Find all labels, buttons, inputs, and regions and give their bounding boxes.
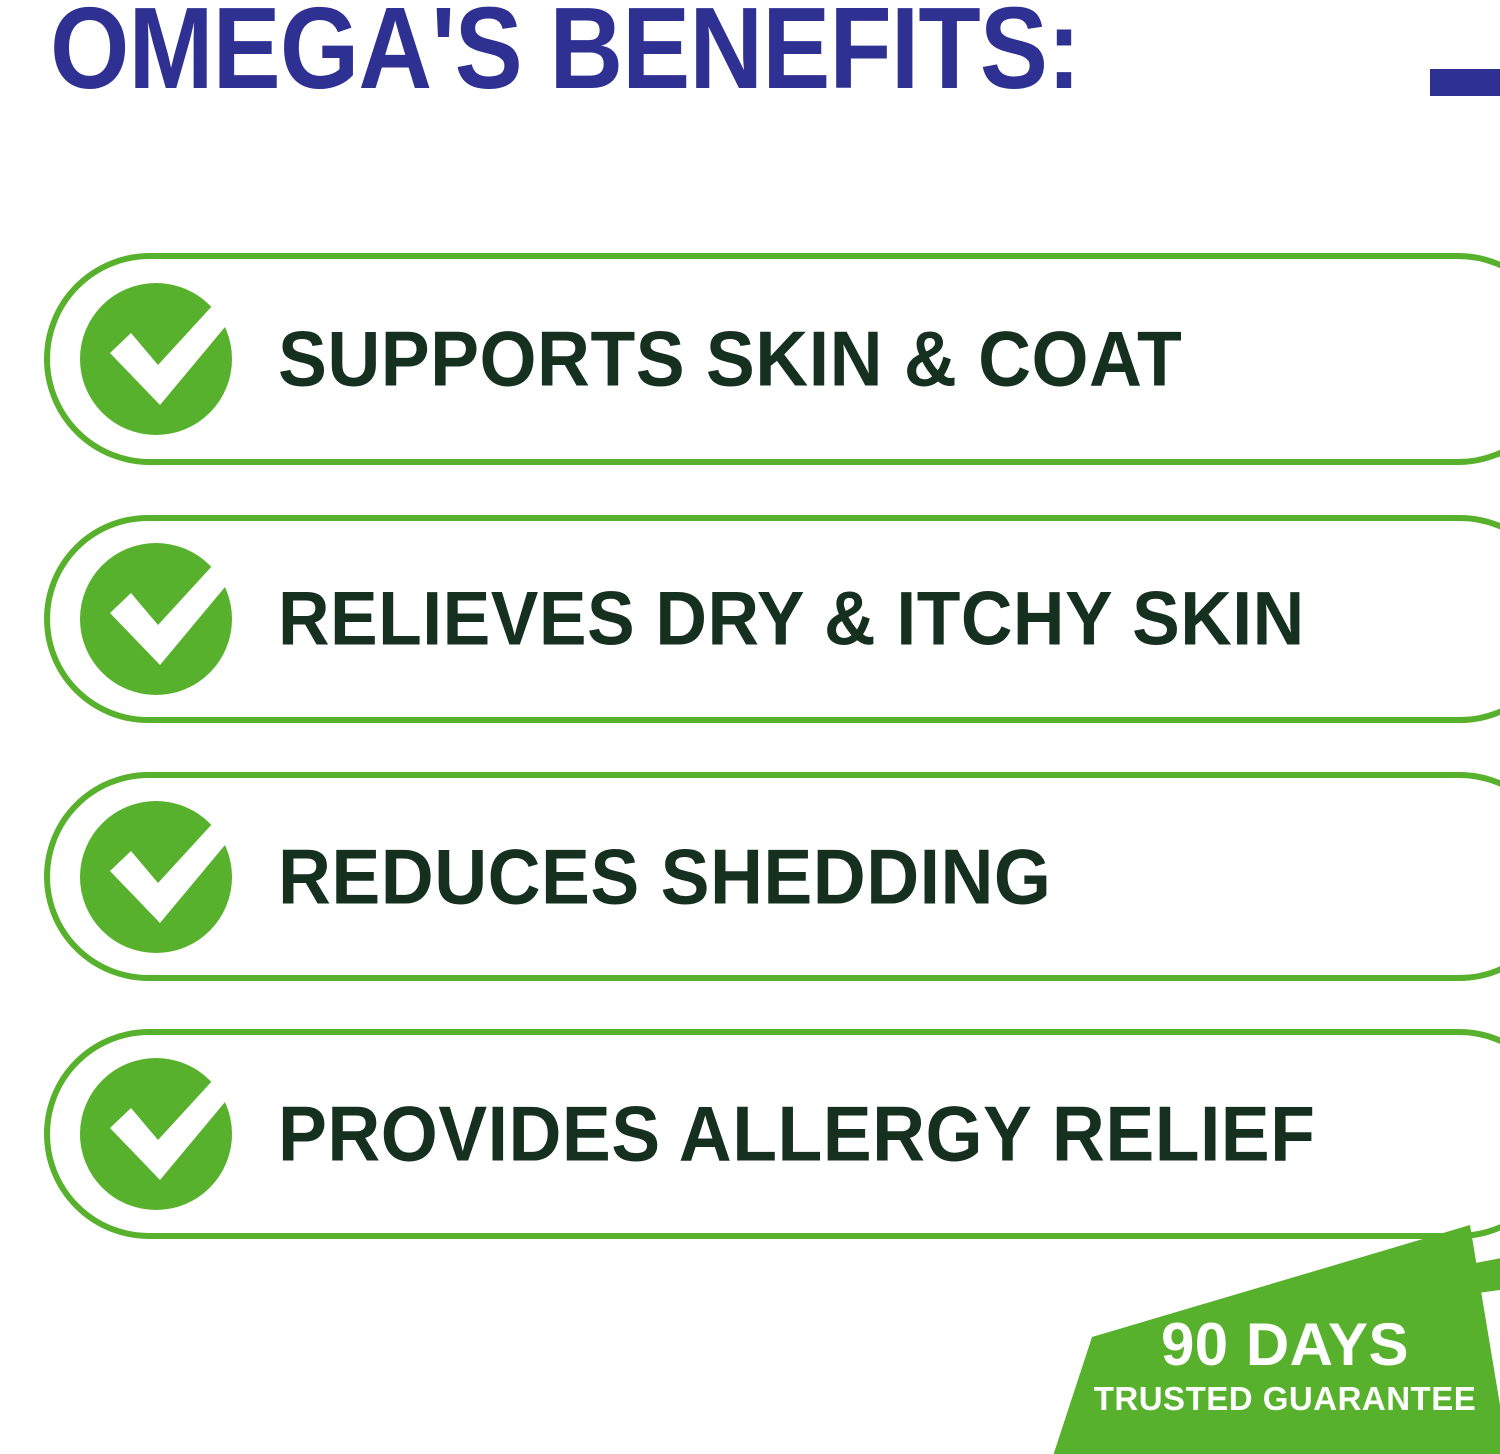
benefit-pill-2: RELIEVES DRY & ITCHY SKIN bbox=[44, 515, 1500, 723]
benefit-pill-3: REDUCES SHEDDING bbox=[44, 772, 1500, 981]
check-circle-icon bbox=[74, 277, 238, 441]
benefit-pill-4: PROVIDES ALLERGY RELIEF bbox=[44, 1029, 1500, 1239]
ribbon-banner-icon bbox=[1050, 1225, 1500, 1454]
benefit-label-1: SUPPORTS SKIN & COAT bbox=[278, 314, 1182, 405]
heading: OMEGA'S BENEFITS: bbox=[0, 0, 1500, 120]
dash-rule-icon bbox=[1430, 69, 1500, 96]
check-circle-icon bbox=[74, 537, 238, 701]
page-title: OMEGA'S BENEFITS: bbox=[50, 0, 1080, 108]
check-circle-icon bbox=[74, 1052, 238, 1216]
benefit-label-2: RELIEVES DRY & ITCHY SKIN bbox=[278, 576, 1305, 663]
check-circle-icon bbox=[74, 795, 238, 959]
guarantee-badge: 90 DAYS TRUSTED GUARANTEE bbox=[1050, 1225, 1500, 1454]
benefit-label-4: PROVIDES ALLERGY RELIEF bbox=[278, 1089, 1315, 1180]
benefit-label-3: REDUCES SHEDDING bbox=[278, 831, 1051, 922]
benefits-infographic: OMEGA'S BENEFITS: SUPPORTS SKIN & COAT R… bbox=[0, 0, 1500, 1454]
benefit-pill-1: SUPPORTS SKIN & COAT bbox=[44, 253, 1500, 465]
